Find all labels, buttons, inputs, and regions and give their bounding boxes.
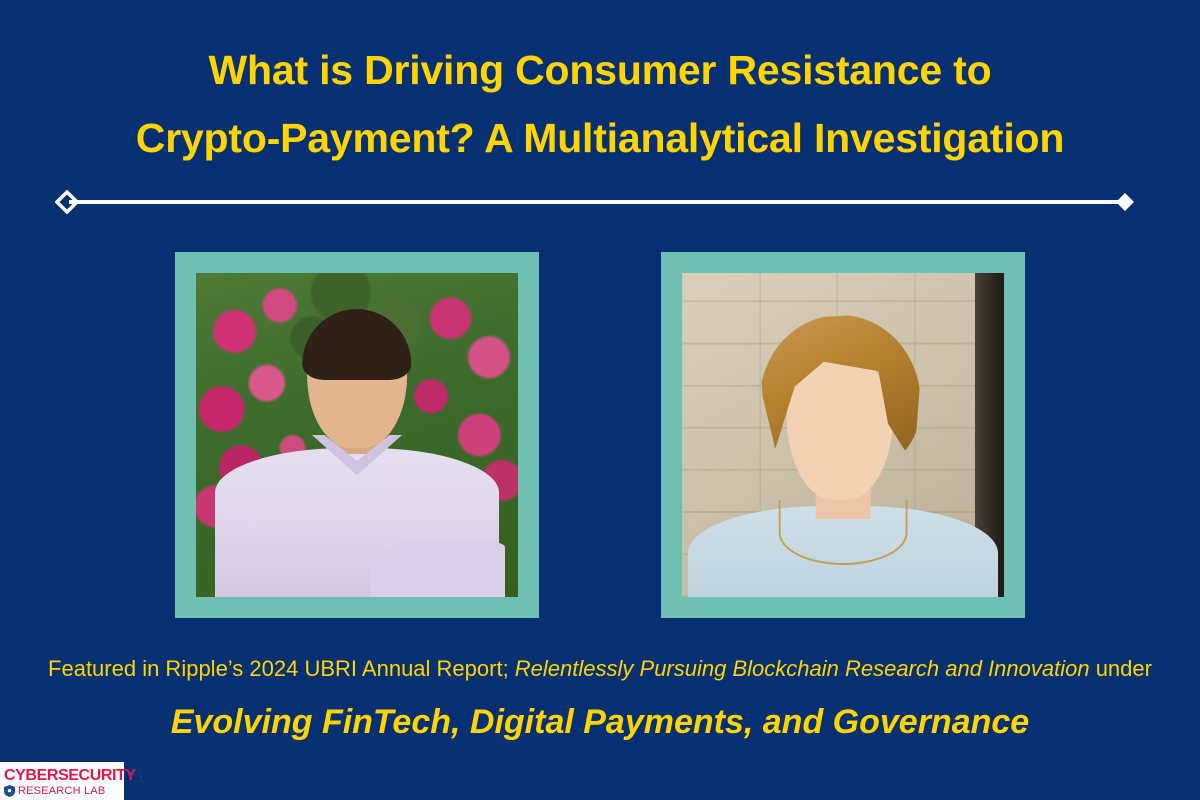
logo-title: CYBERSECURITY [4, 767, 120, 784]
diamond-solid-icon [1113, 190, 1137, 214]
title-divider [55, 190, 1137, 214]
logo-subtitle-row: RESEARCH LAB [4, 785, 120, 797]
portrait-right-necklace [779, 500, 908, 565]
portrait-left-arms [370, 542, 505, 597]
page-title: What is Driving Consumer Resistance to C… [0, 36, 1200, 172]
shield-icon [4, 785, 15, 797]
title-line-2: Crypto-Payment? A Multianalytical Invest… [0, 104, 1200, 172]
portrait-right-frame [661, 252, 1025, 618]
portrait-left [196, 273, 518, 597]
caption-prefix: Featured in Ripple’s 2024 UBRI Annual Re… [48, 656, 515, 681]
title-line-1: What is Driving Consumer Resistance to [0, 36, 1200, 104]
caption-line-2: Evolving FinTech, Digital Payments, and … [0, 696, 1200, 748]
logo-subtitle: RESEARCH LAB [18, 785, 105, 797]
caption-line-1: Featured in Ripple’s 2024 UBRI Annual Re… [0, 652, 1200, 686]
portrait-left-frame [175, 252, 539, 618]
caption: Featured in Ripple’s 2024 UBRI Annual Re… [0, 652, 1200, 748]
caption-suffix: under [1090, 656, 1152, 681]
portrait-right [682, 273, 1004, 597]
divider-line [69, 200, 1123, 204]
caption-report-title: Relentlessly Pursuing Blockchain Researc… [515, 656, 1090, 681]
presentation-slide: What is Driving Consumer Resistance to C… [0, 0, 1200, 800]
cybersecurity-research-lab-logo: CYBERSECURITY RESEARCH LAB [0, 762, 124, 800]
